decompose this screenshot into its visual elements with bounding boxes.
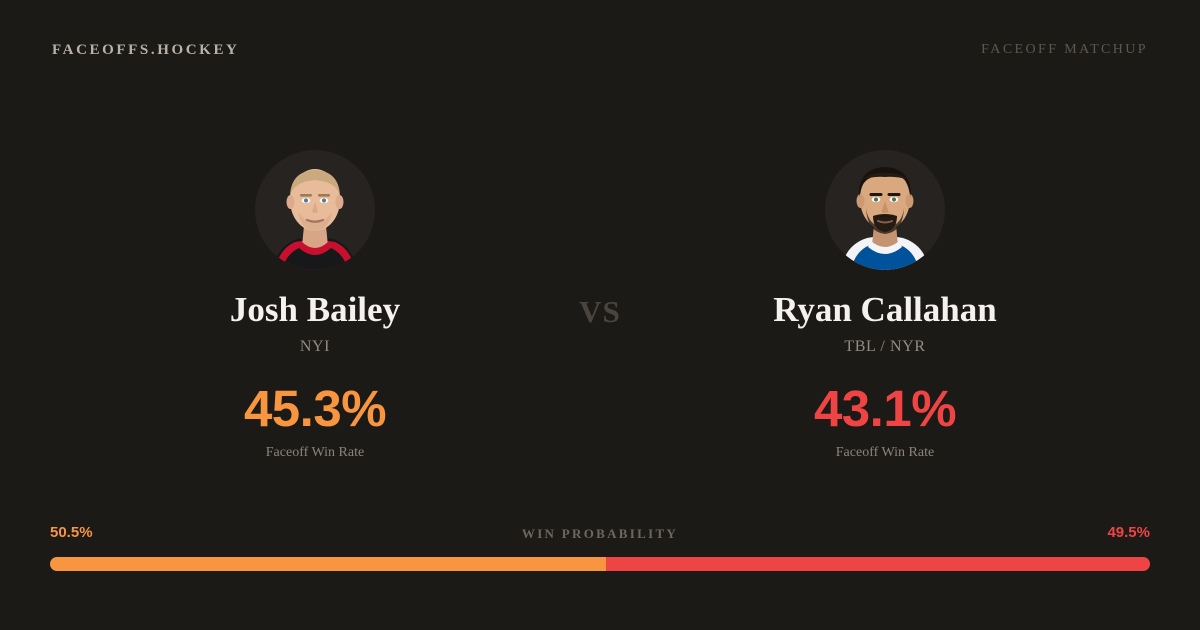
- player-card-right: Ryan Callahan TBL / NYR 43.1% Faceoff Wi…: [670, 150, 1100, 461]
- player-team-right: TBL / NYR: [844, 338, 925, 356]
- win-probability-section: 50.5% WIN PROBABILITY 49.5%: [50, 524, 1150, 584]
- player-faceoff-rate-right: 43.1%: [814, 383, 956, 434]
- header-tag: FACEOFF MATCHUP: [981, 42, 1148, 58]
- player-headshot-right: [825, 150, 945, 270]
- win-probability-bar-left-segment: [50, 557, 606, 571]
- player-name-left: Josh Bailey: [230, 292, 400, 329]
- player-name-right: Ryan Callahan: [773, 292, 996, 329]
- win-probability-bar-right-segment: [606, 557, 1151, 571]
- win-probability-bar: [50, 557, 1150, 571]
- player-team-left: NYI: [300, 338, 330, 356]
- matchup-section: Josh Bailey NYI 45.3% Faceoff Win Rate V…: [0, 150, 1200, 480]
- player-faceoff-rate-left: 45.3%: [244, 383, 386, 434]
- header-bar: FACEOFFS.HOCKEY FACEOFF MATCHUP: [0, 0, 1200, 100]
- vs-divider: VS: [530, 294, 670, 330]
- player-rate-label-left: Faceoff Win Rate: [266, 445, 364, 461]
- player-rate-label-right: Faceoff Win Rate: [836, 445, 934, 461]
- win-probability-values: 50.5% WIN PROBABILITY 49.5%: [50, 524, 1150, 546]
- win-probability-title: WIN PROBABILITY: [50, 526, 1150, 542]
- player-card-left: Josh Bailey NYI 45.3% Faceoff Win Rate: [100, 150, 530, 461]
- player-headshot-left: [255, 150, 375, 270]
- faceoff-matchup-card: FACEOFFS.HOCKEY FACEOFF MATCHUP: [0, 0, 1200, 630]
- site-brand: FACEOFFS.HOCKEY: [52, 42, 239, 59]
